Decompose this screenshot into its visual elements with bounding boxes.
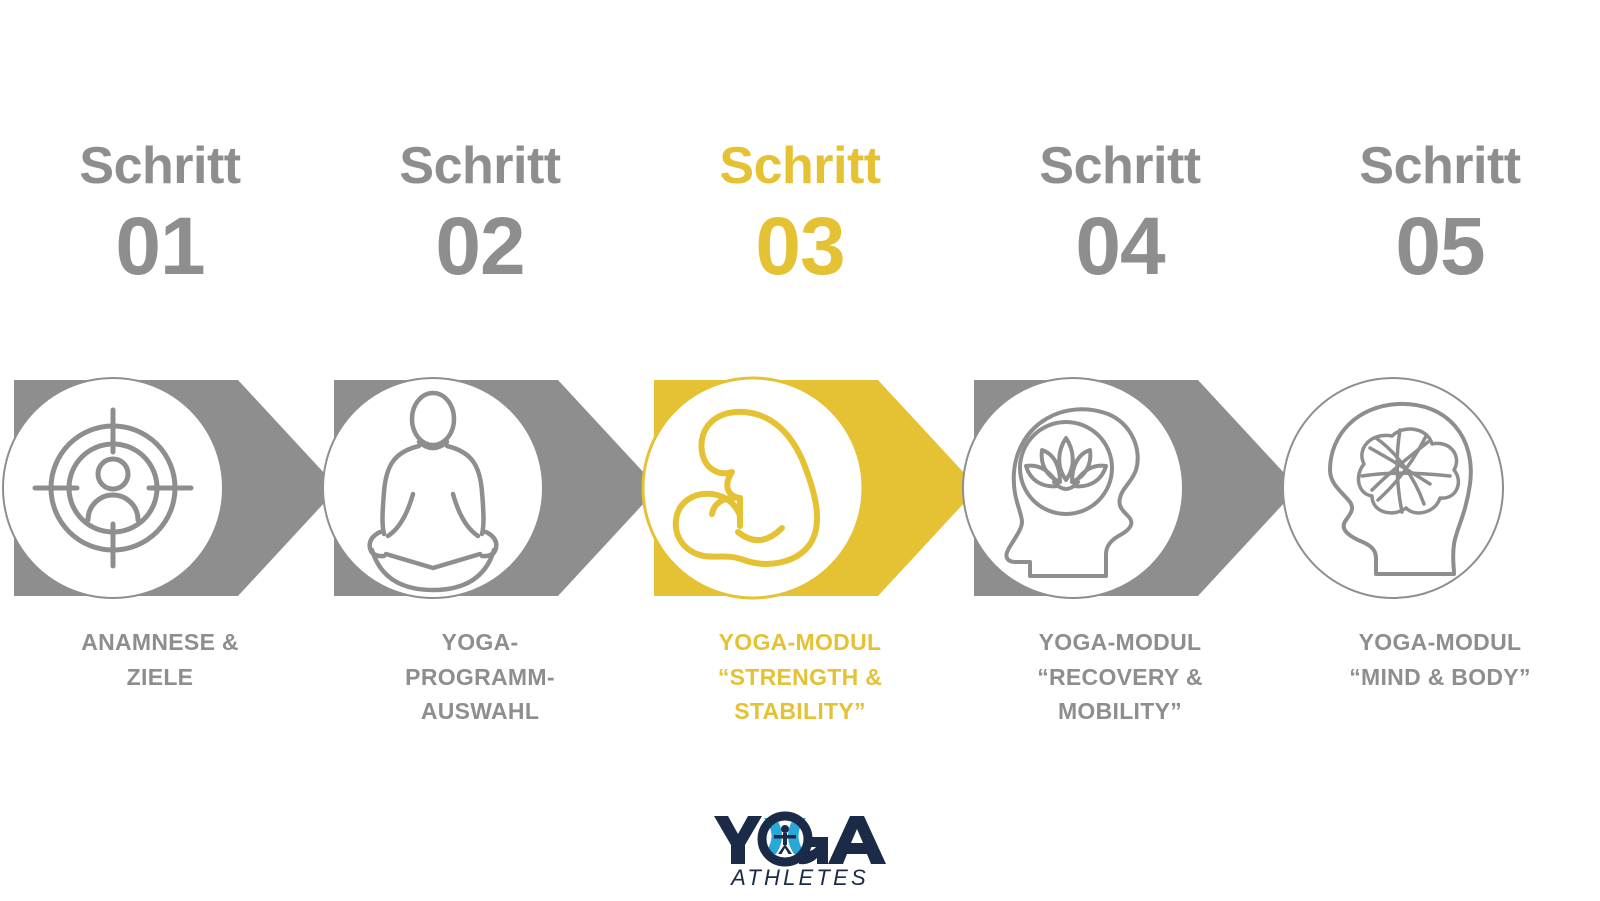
caption-03-line-3: STABILITY”	[654, 694, 946, 729]
slide-canvas: Schritt 01 Schritt 02 Schritt 03 Schritt…	[0, 0, 1600, 901]
icon-circle-03	[640, 372, 870, 604]
caption-02-line-2: PROGRAMM-	[334, 660, 626, 695]
icon-circle-01	[0, 372, 230, 604]
yoga-athletes-logo: ATHLETES	[700, 804, 900, 890]
icon-circle-05	[1280, 372, 1510, 604]
caption-01-line-2: ZIELE	[14, 660, 306, 695]
caption-02-line-1: YOGA-	[334, 625, 626, 660]
process-arrow-band	[0, 372, 1600, 604]
step-number-04: 04	[1075, 206, 1164, 288]
step-number-02: 02	[435, 206, 524, 288]
caption-03-line-2: “STRENGTH &	[654, 660, 946, 695]
step-header-03: Schritt 03	[640, 140, 960, 340]
process-node-03[interactable]	[640, 372, 960, 604]
caption-05-line-2: “MIND & BODY”	[1294, 660, 1586, 695]
caption-02: YOGA- PROGRAMM- AUSWAHL	[320, 625, 640, 745]
process-node-05[interactable]	[1280, 372, 1600, 604]
step-header-04: Schritt 04	[960, 140, 1280, 340]
step-word-02: Schritt	[399, 140, 560, 192]
process-node-01[interactable]	[0, 372, 320, 604]
process-node-02[interactable]	[320, 372, 640, 604]
step-word-05: Schritt	[1359, 140, 1520, 192]
step-header-02: Schritt 02	[320, 140, 640, 340]
brand-logo: ATHLETES	[700, 804, 900, 890]
caption-04-line-3: MOBILITY”	[974, 694, 1266, 729]
step-header-05: Schritt 05	[1280, 140, 1600, 340]
caption-05: YOGA-MODUL “MIND & BODY”	[1280, 625, 1600, 745]
icon-circle-02	[320, 372, 550, 604]
caption-03: YOGA-MODUL “STRENGTH & STABILITY”	[640, 625, 960, 745]
caption-04-line-1: YOGA-MODUL	[974, 625, 1266, 660]
logo-athlete-roundel	[762, 816, 808, 862]
caption-03-line-1: YOGA-MODUL	[654, 625, 946, 660]
step-word-03: Schritt	[719, 140, 880, 192]
step-header-01: Schritt 01	[0, 140, 320, 340]
process-node-04[interactable]	[960, 372, 1280, 604]
caption-05-line-1: YOGA-MODUL	[1294, 625, 1586, 660]
captions-row: ANAMNESE & ZIELE YOGA- PROGRAMM- AUSWAHL…	[0, 625, 1600, 745]
step-word-04: Schritt	[1039, 140, 1200, 192]
caption-01-line-1: ANAMNESE &	[14, 625, 306, 660]
caption-02-line-3: AUSWAHL	[334, 694, 626, 729]
step-number-05: 05	[1395, 206, 1484, 288]
caption-04: YOGA-MODUL “RECOVERY & MOBILITY”	[960, 625, 1280, 745]
step-number-01: 01	[115, 206, 204, 288]
logo-tagline: ATHLETES	[729, 865, 869, 890]
steps-header-row: Schritt 01 Schritt 02 Schritt 03 Schritt…	[0, 140, 1600, 340]
step-word-01: Schritt	[79, 140, 240, 192]
caption-04-line-2: “RECOVERY &	[974, 660, 1266, 695]
caption-01: ANAMNESE & ZIELE	[0, 625, 320, 745]
step-number-03: 03	[755, 206, 844, 288]
icon-circle-04	[960, 372, 1190, 604]
